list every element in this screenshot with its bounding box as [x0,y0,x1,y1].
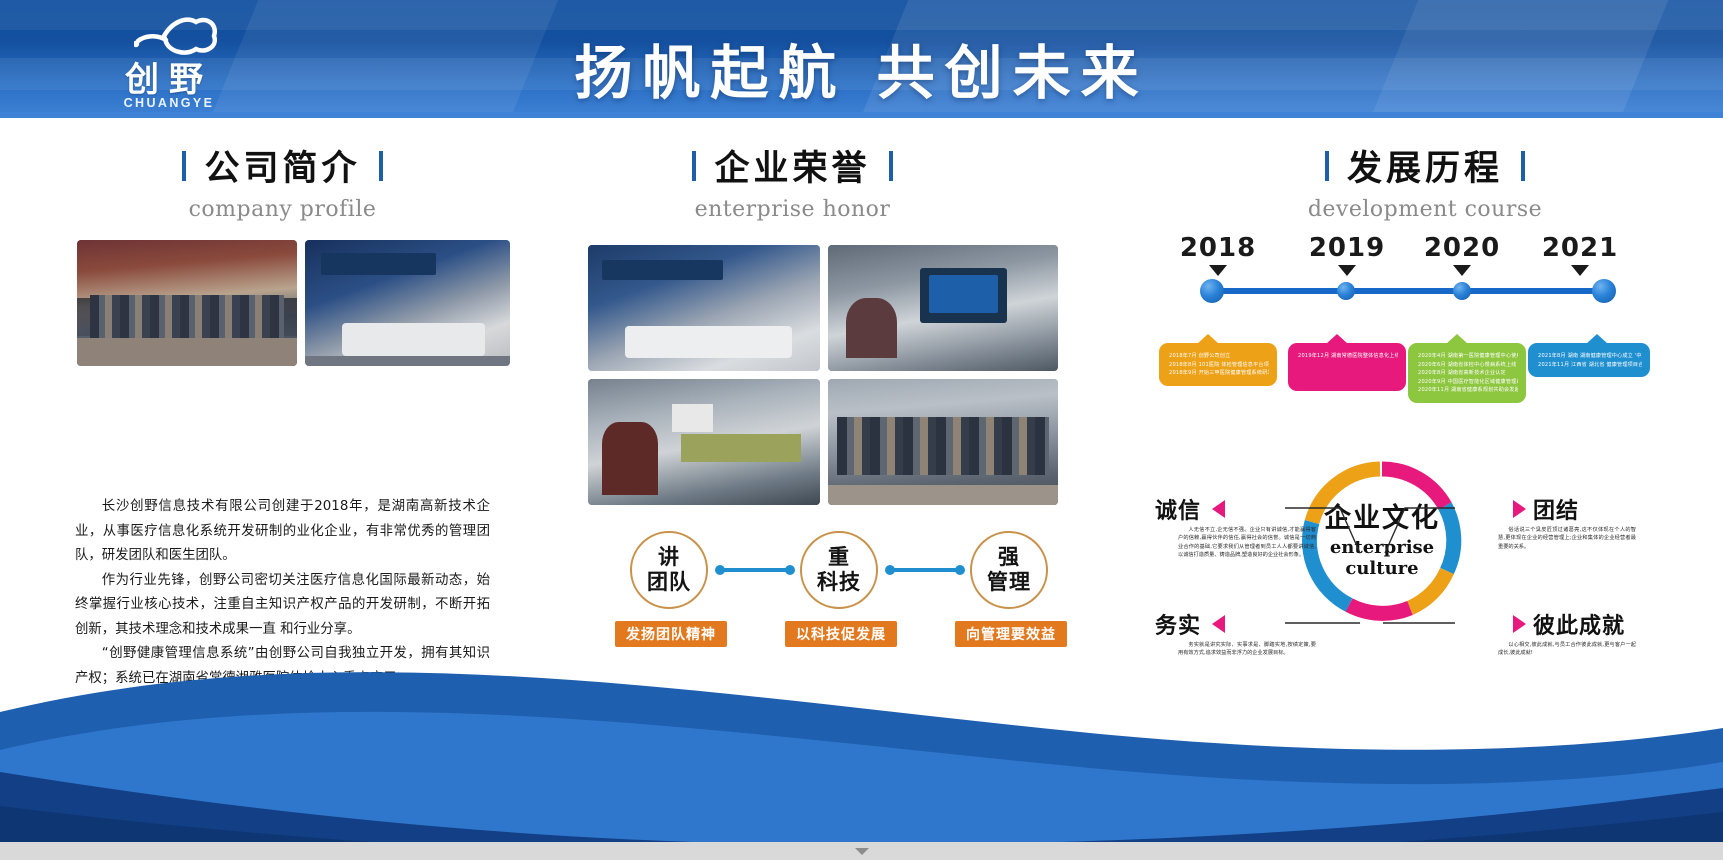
timeline-card-line: 2020年9月 中国医疗智能化区域健康管理系统 [1418,378,1518,387]
section-title-honor-cn: 企业荣誉 [585,140,1000,191]
culture-desc-tuanjie: 俗话说三个臭皮匠顶过诸葛亮,这不仅体现在个人的智慧,更体现在企业的经营管理上;企… [1498,526,1636,551]
poster-header: 创野 CHUANGYE 扬帆起航 共创未来 [0,0,1723,118]
title-tick-right [379,151,383,181]
timeline-card-line: 2020年8月 湖南省高新技术企业认定 [1418,369,1518,378]
connector-2 [890,568,960,572]
honor-photo-4 [828,379,1058,505]
timeline-caret-2021 [1571,265,1589,276]
value-node-team-line2: 团队 [647,570,691,595]
honor-photo-3 [588,379,820,505]
profile-photo-1 [77,240,297,366]
title-tick-left [692,151,696,181]
section-title-profile-en: company profile [75,197,490,222]
timeline-caret-2018 [1209,265,1227,276]
timeline-card-line: 2018年9月 开始三甲医院健康管理系统研发 [1169,369,1269,378]
timeline-caret-2019 [1338,265,1356,276]
value-node-tech[interactable]: 重 科技 [800,531,878,609]
timeline-dot-2020[interactable] [1453,282,1471,300]
value-node-team[interactable]: 讲 团队 [630,531,708,609]
timeline-card-line: 2018年7月 创野公司创立 [1169,352,1269,361]
section-title-course: 发展历程 development course [1200,140,1650,222]
line-tuanjie [1385,508,1455,553]
profile-paragraph: 长沙创野信息技术有限公司创建于2018年，是湖南高新技术企业，从事医疗信息化系统… [75,495,490,569]
poster-footer [0,620,1723,860]
culture-desc-chengxin: 人无信不立,企无信不强。企业只有讲诚信,才能赢得客户的信赖,赢得伙伴的信任,赢得… [1178,526,1316,560]
culture-desc-text: 人无信不立,企无信不强。企业只有讲诚信,才能赢得客户的信赖,赢得伙伴的信任,赢得… [1178,526,1316,560]
culture-arrow-tuanjie [1513,500,1526,518]
title-tick-left [182,151,186,181]
timeline-card-2019[interactable]: 2019年12月 湖南常德医院整体信息化上线 [1288,343,1406,391]
poster-canvas: 创野 CHUANGYE 扬帆起航 共创未来 公司简介 company profi… [0,0,1723,860]
section-title-profile-cn-text: 公司简介 [204,140,360,191]
timeline-card-2020[interactable]: 2020年4月 湖南第一医院健康管理中心使用 2020年6月 湖南省体检中心慢病… [1408,343,1526,403]
card-notch [1586,334,1608,344]
timeline-dot-2019[interactable] [1337,282,1355,300]
timeline-caret-2020 [1453,265,1471,276]
section-title-course-cn: 发展历程 [1200,140,1650,191]
value-node-team-line1: 讲 [658,545,680,570]
timeline-dot-2021[interactable] [1592,279,1616,303]
timeline-card-line: 2021年11月 江西省 湖北省 健康管理项目合作区域战略合作 [1538,361,1642,370]
profile-photo-2 [305,240,510,366]
poster-title: 扬帆起航 共创未来 [0,26,1723,110]
value-node-mgmt[interactable]: 强 管理 [970,531,1048,609]
title-tick-left [1325,151,1329,181]
honor-photo-1 [588,245,820,371]
timeline-year-2019: 2019 [1297,233,1397,263]
culture-label-tuanjie: 团结 [1533,493,1579,525]
connector-dot [955,565,965,575]
connector-dot [715,565,725,575]
timeline-card-line: 2020年11月 湖南省健康系规划共助会发起 [1418,386,1518,395]
section-title-profile: 公司简介 company profile [75,140,490,222]
card-notch [1326,334,1348,344]
timeline-card-line: 2020年4月 湖南第一医院健康管理中心使用 [1418,352,1518,361]
culture-desc-text: 俗话说三个臭皮匠顶过诸葛亮,这不仅体现在个人的智慧,更体现在企业的经营管理上;企… [1498,526,1636,551]
value-node-mgmt-line1: 强 [998,545,1020,570]
connector-dot [785,565,795,575]
title-tick-right [1521,151,1525,181]
timeline-card-line: 2021年8月 湖南 湖南健康管理中心成立 '中野' [1538,352,1642,361]
title-tick-right [889,151,893,181]
section-title-honor-en: enterprise honor [585,197,1000,222]
viewer-scrollbar[interactable] [0,842,1723,860]
footer-wave-graphic [0,620,1723,860]
timeline-year-2021: 2021 [1530,233,1630,263]
timeline-year-2020: 2020 [1412,233,1512,263]
culture-label-chengxin: 诚信 [1155,493,1201,525]
timeline-track [1212,288,1605,294]
card-notch [1446,334,1468,344]
value-node-tech-line1: 重 [828,545,850,570]
timeline-card-line: 2020年6月 湖南省体检中心慢病系统上线 [1418,361,1518,370]
timeline-card-line: 2018年8月 101医院 体检管理信息平台项目 [1169,361,1269,370]
timeline-card-2021[interactable]: 2021年8月 湖南 湖南健康管理中心成立 '中野' 2021年11月 江西省 … [1528,343,1650,377]
culture-arrow-chengxin [1212,500,1225,518]
value-node-tech-line2: 科技 [817,570,861,595]
card-notch [1197,334,1219,344]
timeline-year-2018: 2018 [1168,233,1268,263]
honor-photo-2 [828,245,1058,371]
section-title-honor-cn-text: 企业荣誉 [714,140,870,191]
connector-1 [720,568,790,572]
timeline-card-2018[interactable]: 2018年7月 创野公司创立 2018年8月 101医院 体检管理信息平台项目 … [1159,343,1277,386]
section-title-honor: 企业荣誉 enterprise honor [585,140,1000,222]
section-title-course-cn-text: 发展历程 [1347,140,1503,191]
connector-dot [885,565,895,575]
timeline-card-line: 2019年12月 湖南常德医院整体信息化上线 [1298,352,1398,361]
value-node-mgmt-line2: 管理 [987,570,1031,595]
section-title-course-en: development course [1200,197,1650,222]
section-title-profile-cn: 公司简介 [75,140,490,191]
poster-body: 公司简介 company profile 企业荣誉 enterprise hon… [0,118,1723,638]
timeline-dot-2018[interactable] [1200,279,1224,303]
chevron-down-icon[interactable] [855,848,869,855]
